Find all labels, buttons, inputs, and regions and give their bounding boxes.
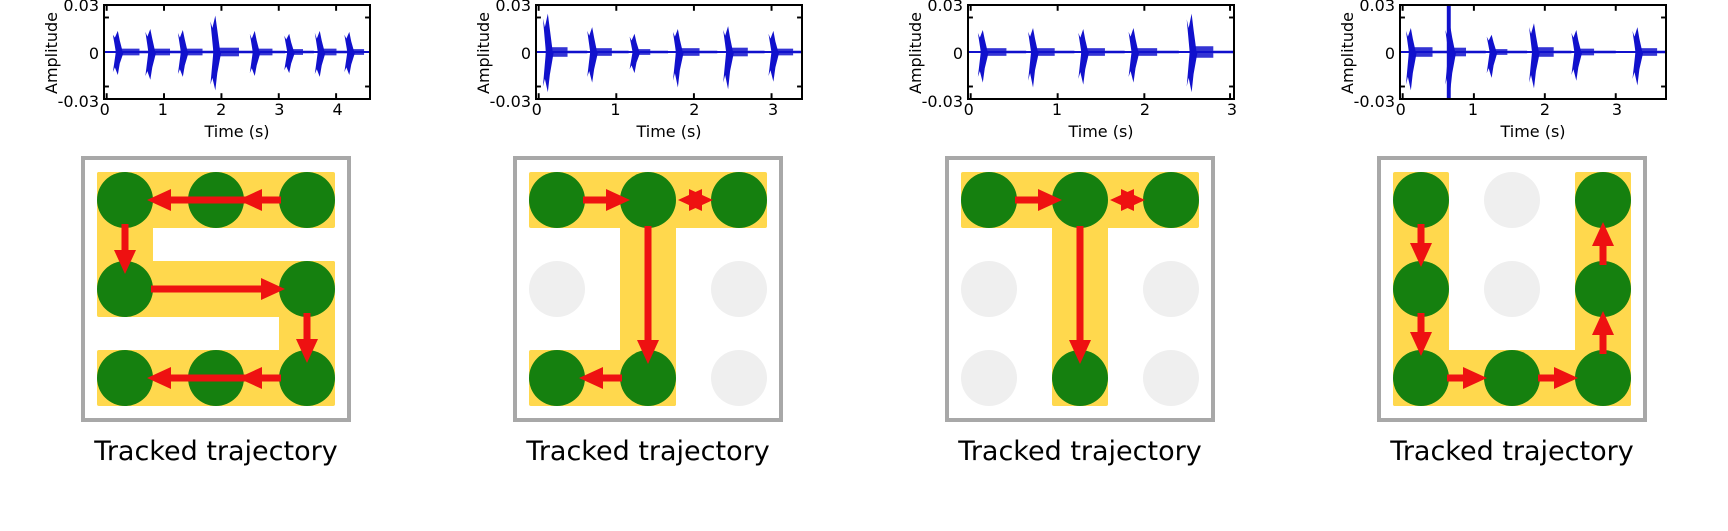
y-tick-max: 0.03 [1347,0,1395,14]
x-tick-1: 1 [1468,102,1478,118]
x-tick-labels: 0 1 2 3 [535,102,803,122]
y-tick-zero: 0 [483,46,531,62]
x-tick-2: 2 [1140,102,1150,118]
waveform-svg [537,6,801,98]
x-tick-labels: 0 1 2 3 [967,102,1235,122]
y-tick-min: -0.03 [915,94,963,110]
x-tick-4: 4 [333,102,343,118]
y-tick-min: -0.03 [483,94,531,110]
x-tick-3: 3 [1227,102,1237,118]
x-tick-labels: 0 1 2 3 [1399,102,1667,122]
y-tick-labels: 0.03 0 -0.03 [1347,4,1395,100]
trajectory-board-u [1377,156,1647,422]
y-tick-zero: 0 [1347,46,1395,62]
trajectory-board-s [81,156,351,422]
trajectory-board-wrap-2 [513,156,783,422]
panel-1: Amplitude 0.03 0 -0.03 [0,0,432,531]
tracked-trajectory-figure: Amplitude 0.03 0 -0.03 [0,0,1728,531]
plot-axes [535,4,803,100]
panel-3: Amplitude 0.03 0 -0.03 [864,0,1296,531]
x-axis-label: Time (s) [1399,122,1667,141]
x-tick-labels: 0 1 2 3 4 [103,102,371,122]
trajectory-svg-t1 [517,160,779,418]
waveform-svg [105,6,369,98]
y-tick-max: 0.03 [483,0,531,14]
trajectory-board-wrap-3 [945,156,1215,422]
y-tick-labels: 0.03 0 -0.03 [51,4,99,100]
x-tick-3: 3 [768,102,778,118]
trajectory-svg-t2 [949,160,1211,418]
x-tick-2: 2 [1540,102,1550,118]
waveform-plot-2: Amplitude 0.03 0 -0.03 [483,4,823,144]
plot-axes [967,4,1235,100]
y-tick-max: 0.03 [51,0,99,14]
x-tick-0: 0 [100,102,110,118]
trajectory-svg-s [85,160,347,418]
x-tick-0: 0 [964,102,974,118]
x-tick-0: 0 [1396,102,1406,118]
x-tick-2: 2 [216,102,226,118]
x-tick-3: 3 [274,102,284,118]
plot-axes [1399,4,1667,100]
plot-axes [103,4,371,100]
panel-caption: Tracked trajectory [1390,436,1633,467]
x-axis-label: Time (s) [103,122,371,141]
x-tick-3: 3 [1612,102,1622,118]
x-tick-1: 1 [610,102,620,118]
x-tick-1: 1 [1052,102,1062,118]
waveform-plot-4: Amplitude 0.03 0 -0.03 [1347,4,1687,144]
y-tick-max: 0.03 [915,0,963,14]
grid-nodes-inactive [1484,172,1540,317]
y-tick-min: -0.03 [51,94,99,110]
y-tick-zero: 0 [915,46,963,62]
y-tick-labels: 0.03 0 -0.03 [483,4,531,100]
panel-4: Amplitude 0.03 0 -0.03 [1296,0,1728,531]
waveform-svg [1401,6,1665,98]
panel-caption: Tracked trajectory [526,436,769,467]
waveform-plot-3: Amplitude 0.03 0 -0.03 [915,4,1255,144]
y-tick-min: -0.03 [1347,94,1395,110]
x-tick-0: 0 [532,102,542,118]
trajectory-board-t1 [513,156,783,422]
y-tick-labels: 0.03 0 -0.03 [915,4,963,100]
trajectory-board-wrap-4 [1377,156,1647,422]
y-tick-zero: 0 [51,46,99,62]
waveform-svg [969,6,1233,98]
panel-2: Amplitude 0.03 0 -0.03 [432,0,864,531]
x-axis-label: Time (s) [967,122,1235,141]
panel-caption: Tracked trajectory [958,436,1201,467]
panel-caption: Tracked trajectory [94,436,337,467]
x-axis-label: Time (s) [535,122,803,141]
waveform-plot-1: Amplitude 0.03 0 -0.03 [51,4,391,144]
trajectory-board-t2 [945,156,1215,422]
x-tick-1: 1 [158,102,168,118]
trajectory-board-wrap-1 [81,156,351,422]
trajectory-svg-u [1381,160,1643,418]
x-tick-2: 2 [689,102,699,118]
